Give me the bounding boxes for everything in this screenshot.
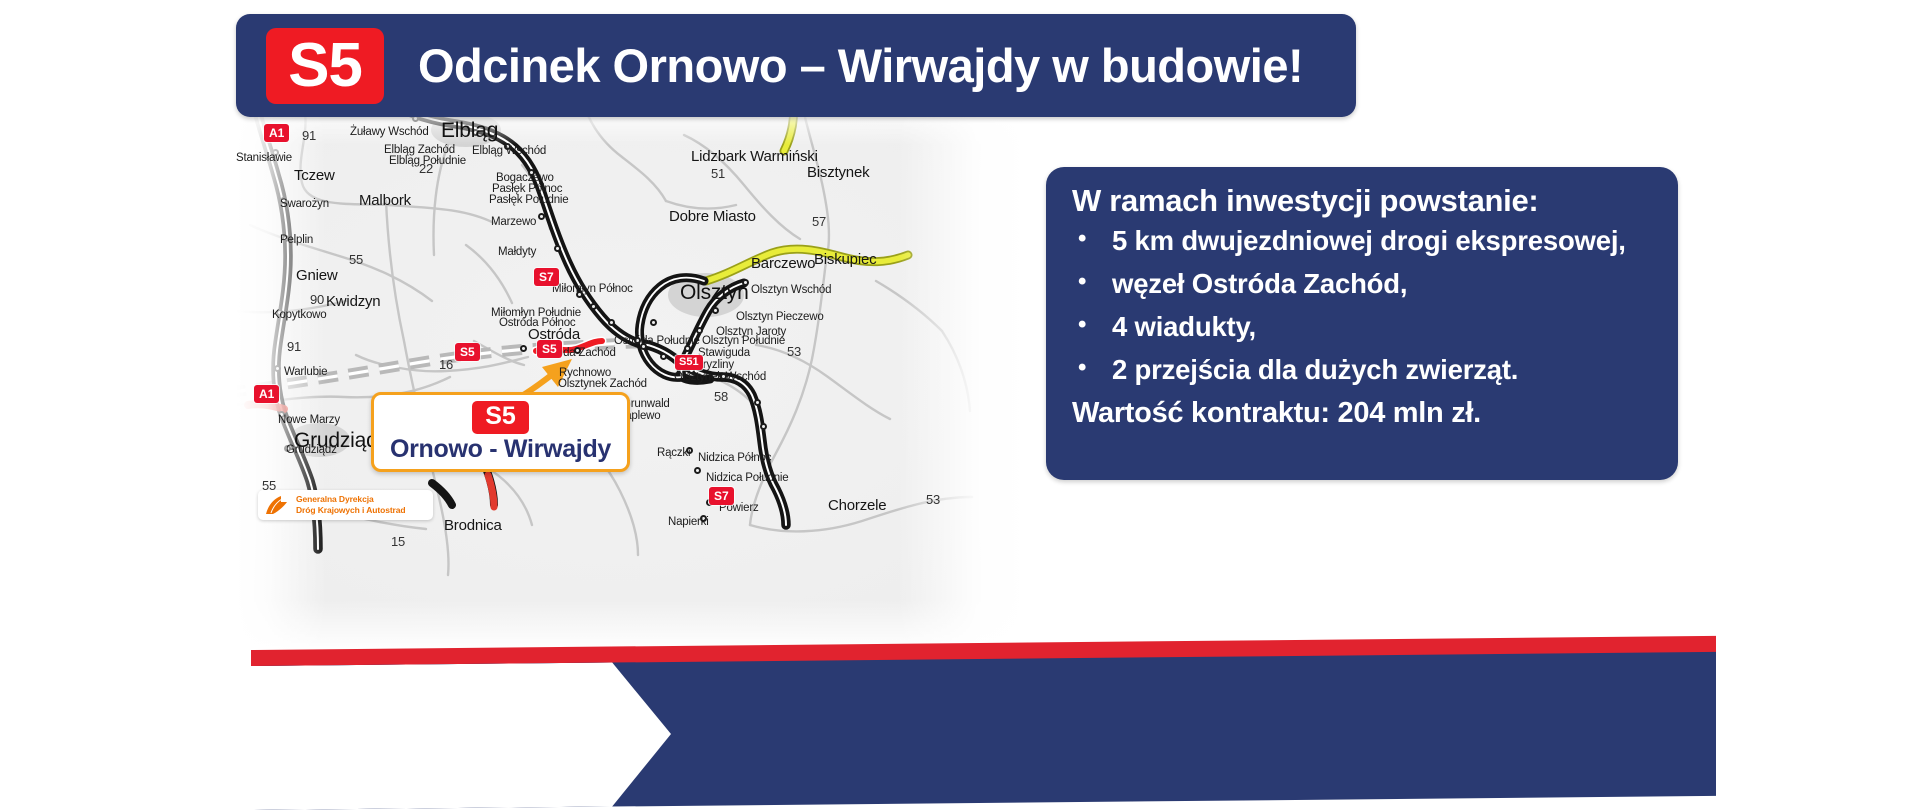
map-town-label: Ostróda Południe <box>614 336 700 348</box>
map-road-number: 55 <box>349 253 363 266</box>
map-town-label: Grudziądz <box>286 445 337 457</box>
map-city-label: Bisztynek <box>807 165 869 180</box>
map-town-label: Stanisławie <box>236 153 292 165</box>
map-town-label: Warlubie <box>284 367 327 379</box>
info-bullet-list: •5 km dwujezdniowej drogi ekspresowej,•w… <box>1072 225 1656 386</box>
map-town-label: Kopytkowo <box>272 310 326 322</box>
header-shield-s5: S5 <box>266 28 384 104</box>
banner-white-chevron <box>251 662 671 810</box>
map-city-label: Dobre Miasto <box>669 209 756 224</box>
map-city-label: Tczew <box>294 168 335 183</box>
map-town-label: Nidzica Południe <box>706 473 788 485</box>
gddkia-arrow-icon <box>264 494 290 516</box>
map-town-label: Stawiguda <box>698 348 750 360</box>
map-region: ElblągOlsztynGrudziądzTczewMalborkOstród… <box>236 105 1028 650</box>
map-town-label: Miłomłyn Północ <box>552 284 633 296</box>
map-town-label: Żuławy Wschód <box>350 127 429 139</box>
map-town-label: Małdyty <box>498 247 536 259</box>
map-road-number: 15 <box>391 535 405 548</box>
map-town-label: Pelplin <box>280 235 313 247</box>
map-town-label: Olsztynek Zachód <box>558 379 647 391</box>
map-road-shield-s7: S7 <box>534 268 559 286</box>
page-title: Odcinek Ornowo – Wirwajdy w budowie! <box>418 38 1303 93</box>
map-city-label: Barczewo <box>751 256 815 271</box>
map-town-label: Elbląg Wschód <box>472 146 546 158</box>
map-road-shield-s7: S7 <box>709 487 734 505</box>
gddkia-logo-badge: Generalna Dyrekcja Dróg Krajowych i Auto… <box>258 490 433 520</box>
map-city-label: Lidzbark Warmiński <box>691 149 818 164</box>
map-town-label: Napierki <box>668 517 709 529</box>
gddkia-text: Generalna Dyrekcja Dróg Krajowych i Auto… <box>296 494 406 516</box>
map-road-number: 91 <box>302 129 316 142</box>
map-city-label: Elbląg <box>441 120 498 141</box>
callout-shield-s5: S5 <box>472 401 529 434</box>
map-town-label: Swarożyn <box>280 199 329 211</box>
map-road-shield-a1: A1 <box>254 385 279 403</box>
info-bullet-item: •węzeł Ostróda Zachód, <box>1072 268 1656 300</box>
info-panel: W ramach inwestycji powstanie: •5 km dwu… <box>1046 167 1678 480</box>
map-road-number: 51 <box>711 167 725 180</box>
bottom-banner: MINISTERSTWO INFRASTRUKTURY #ŁĄCZYMYPOLS… <box>0 650 1920 810</box>
callout-box: S5 Ornowo - Wirwajdy <box>371 392 630 472</box>
header-bar: S5 Odcinek Ornowo – Wirwajdy w budowie! <box>236 14 1356 117</box>
map-road-number: 91 <box>287 340 301 353</box>
gddkia-line2: Dróg Krajowych i Autostrad <box>296 505 406 516</box>
infographic-root: ElblągOlsztynGrudziądzTczewMalborkOstród… <box>0 0 1920 810</box>
map-town-label: Olsztynek Wschód <box>674 372 766 384</box>
map-road-number: 57 <box>812 215 826 228</box>
map-road-number: 90 <box>310 293 324 306</box>
info-panel-heading: W ramach inwestycji powstanie: <box>1072 183 1656 219</box>
map-town-label: Nidzica Północ <box>698 453 771 465</box>
map-town-label: Ostróda Północ <box>499 318 575 330</box>
map-city-label: Brodnica <box>444 518 502 533</box>
info-bullet-text: 5 km dwujezdniowej drogi ekspresowej, <box>1112 225 1656 257</box>
info-bullet-item: •5 km dwujezdniowej drogi ekspresowej, <box>1072 225 1656 257</box>
info-bullet-text: 2 przejścia dla dużych zwierząt. <box>1112 354 1656 386</box>
map-label-layer: ElblągOlsztynGrudziądzTczewMalborkOstród… <box>236 105 1028 650</box>
map-town-label: Olsztyn Wschód <box>751 285 831 297</box>
map-road-shield-s5: S5 <box>537 340 562 358</box>
map-city-label: Chorzele <box>828 498 886 513</box>
map-road-number: 53 <box>926 493 940 506</box>
map-city-label: Malbork <box>359 193 411 208</box>
map-town-label: Olsztyn Pieczewo <box>736 312 824 324</box>
map-road-number: 16 <box>439 358 453 371</box>
map-town-label: Pasłęk Południe <box>489 195 568 207</box>
map-road-number: 22 <box>419 162 433 175</box>
map-road-shield-a1: A1 <box>264 124 289 142</box>
map-road-number: 53 <box>787 345 801 358</box>
bullet-dot-icon: • <box>1072 268 1112 300</box>
bullet-dot-icon: • <box>1072 225 1112 257</box>
map-town-label: Marzewo <box>491 217 536 229</box>
gddkia-line1: Generalna Dyrekcja <box>296 494 406 505</box>
map-town-label: Nowe Marzy <box>278 415 340 427</box>
map-road-number: 58 <box>714 390 728 403</box>
map-road-shield-s5: S5 <box>455 343 480 361</box>
map-city-label: Olsztyn <box>680 282 749 303</box>
bullet-dot-icon: • <box>1072 311 1112 343</box>
contract-value-text: Wartość kontraktu: 204 mln zł. <box>1072 397 1656 430</box>
callout-label: Ornowo - Wirwajdy <box>390 435 611 464</box>
map-road-shield-s51: S51 <box>675 355 703 370</box>
info-bullet-item: •2 przejścia dla dużych zwierząt. <box>1072 354 1656 386</box>
map-city-label: Kwidzyn <box>326 294 380 309</box>
bullet-dot-icon: • <box>1072 354 1112 386</box>
map-town-label: Olsztyn Południe <box>702 336 785 348</box>
info-bullet-item: •4 wiadukty, <box>1072 311 1656 343</box>
info-bullet-text: węzeł Ostróda Zachód, <box>1112 268 1656 300</box>
map-town-label: Rączki <box>657 448 690 460</box>
map-city-label: Biskupiec <box>814 252 876 267</box>
map-city-label: Gniew <box>296 268 338 283</box>
info-bullet-text: 4 wiadukty, <box>1112 311 1656 343</box>
